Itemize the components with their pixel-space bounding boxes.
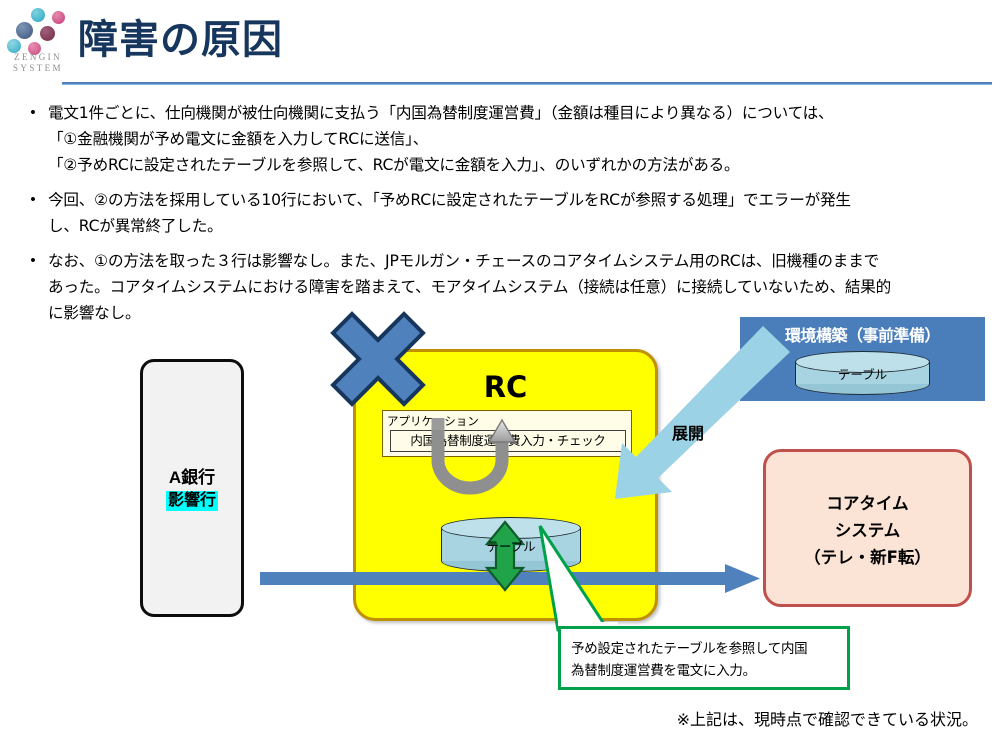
callout-line: 予め設定されたテーブルを参照して内国 [571,638,839,660]
bullet-marker: • [18,187,48,239]
bullet-line: あった。コアタイムシステムにおける障害を踏まえて、モアタイムシステム（接続は任意… [48,274,978,300]
body-text: • 電文1件ごとに、仕向機関が被仕向機関に支払う「内国為替制度運営費」（金額は種… [18,100,978,335]
rc-table-label: テーブル [441,536,581,555]
zengin-system-logo: ZENGIN SYSTEM [4,6,70,78]
environment-table-label: テーブル [795,364,930,383]
bullet-line: なお、①の方法を取った３行は影響なし。また、JPモルガン・チェースのコアタイムシ… [48,248,978,274]
bullet-line: 「②予めRCに設定されたテーブルを参照して、RCが電文に金額を入力」、のいずれか… [48,152,978,178]
x-mark-icon [333,314,423,404]
callout-line: 為替制度運営費を電文に入力。 [571,660,839,682]
bullet-line: 「①金融機関が予め電文に金額を入力してRCに送信」、 [48,126,978,152]
bullet-item: • 電文1件ごとに、仕向機関が被仕向機関に支払う「内国為替制度運営費」（金額は種… [18,100,978,178]
bullet-line: 今回、②の方法を採用している10行において、「予めRCに設定されたテーブルをRC… [48,187,978,213]
logo-wordmark-line1: ZENGIN [14,52,62,62]
bullet-text: 電文1件ごとに、仕向機関が被仕向機関に支払う「内国為替制度運営費」（金額は種目に… [48,100,978,178]
bullet-line: 電文1件ごとに、仕向機関が被仕向機関に支払う「内国為替制度運営費」（金額は種目に… [48,100,978,126]
footer-note: ※上記は、現時点で確認できている状況。 [0,706,978,730]
logo-wordmark: ZENGIN SYSTEM [6,52,70,74]
bullet-marker: • [18,100,48,178]
title-divider [62,82,992,85]
slide-root: ZENGIN SYSTEM 障害の原因 • 電文1件ごとに、仕向機関が被仕向機関… [0,0,1000,735]
deploy-label: 展開 [672,420,704,444]
bullet-item: • 今回、②の方法を採用している10行において、「予めRCに設定されたテーブルを… [18,187,978,239]
logo-wordmark-line2: SYSTEM [13,63,63,73]
page-title: 障害の原因 [78,16,283,64]
deploy-arrow [615,326,790,499]
callout-text: 予め設定されたテーブルを参照して内国 為替制度運営費を電文に入力。 [571,638,839,682]
process-loop-arrow [432,418,516,488]
callout-box: 予め設定されたテーブルを参照して内国 為替制度運営費を電文に入力。 [558,626,850,690]
bullet-text: 今回、②の方法を採用している10行において、「予めRCに設定されたテーブルをRC… [48,187,978,239]
architecture-diagram: A銀行 影響行 RC アプリケーション 内国為替制度運営費入力・チェック テーブ… [0,312,1000,735]
bullet-line: し、RCが異常終了した。 [48,213,978,239]
